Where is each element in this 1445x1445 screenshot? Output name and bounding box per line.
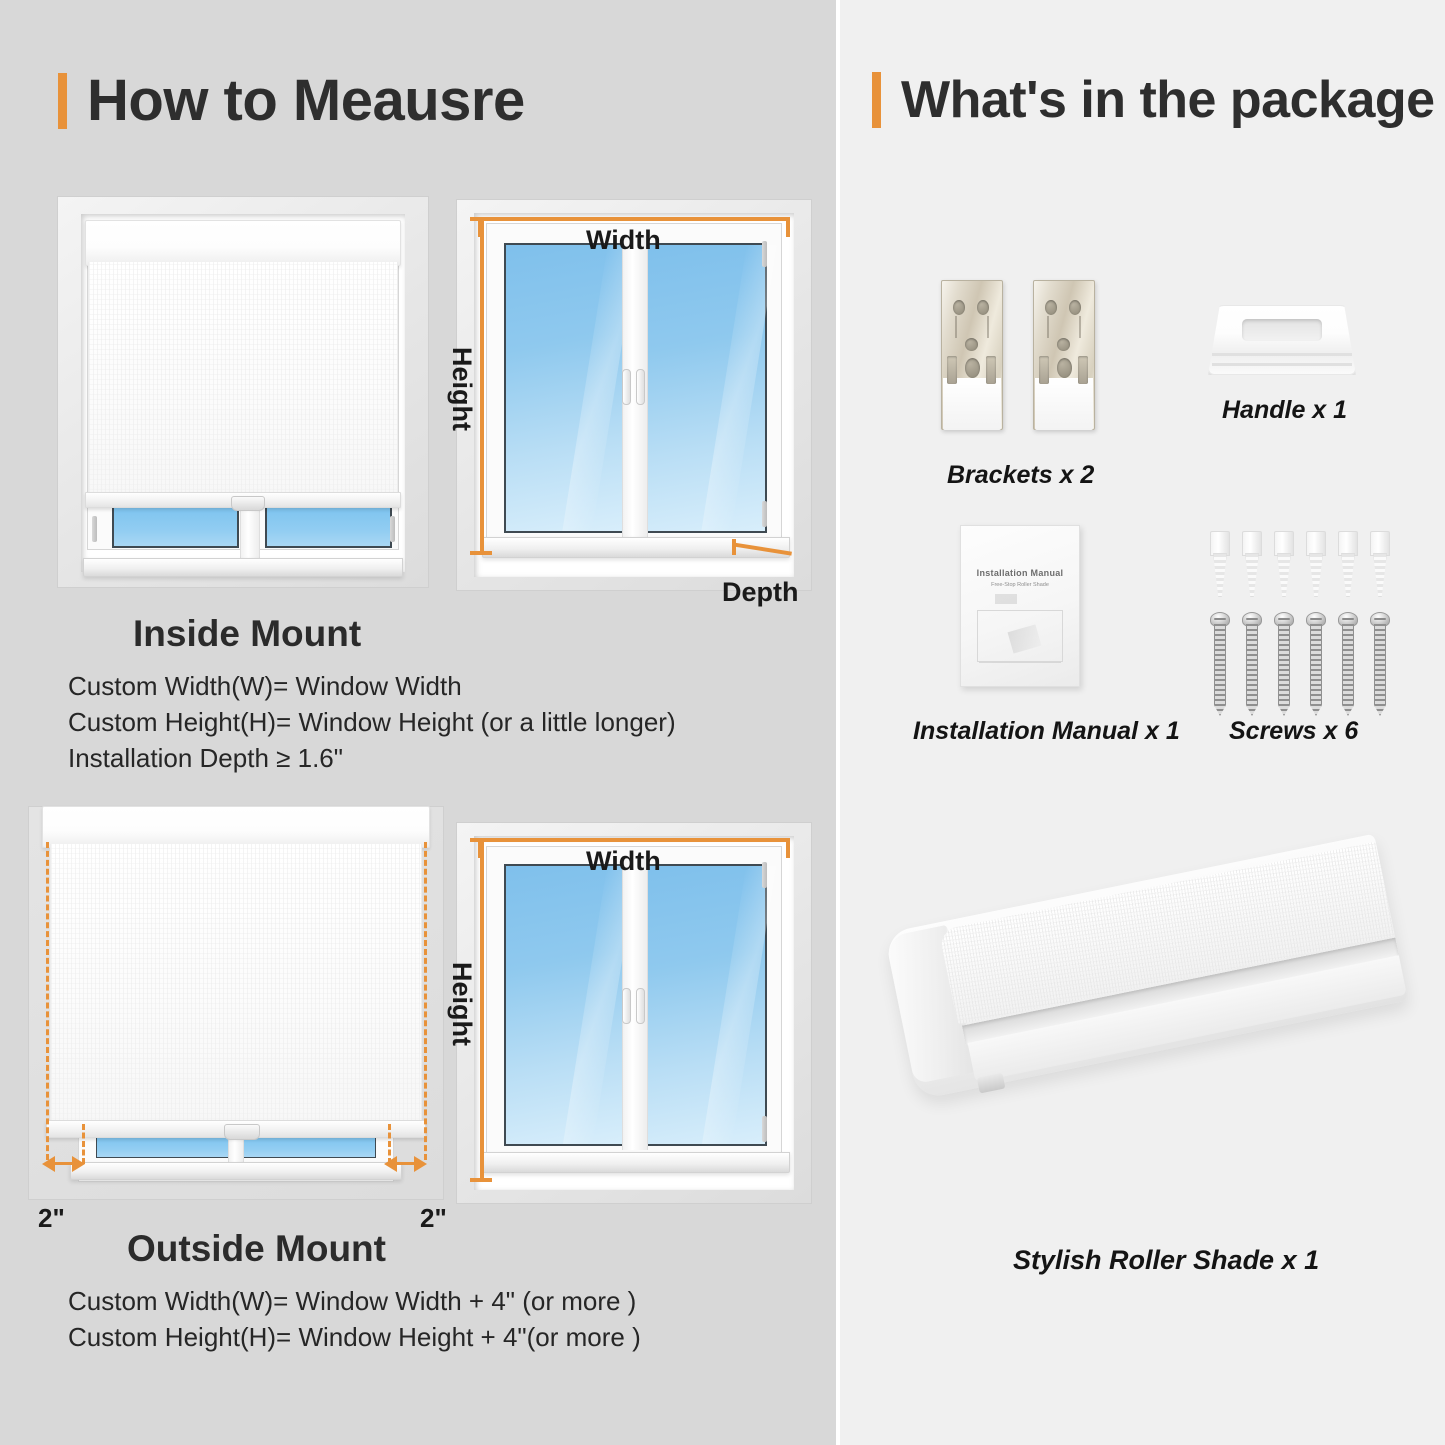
window-sill: [482, 1152, 790, 1173]
handle-part: [1208, 305, 1356, 375]
bracket-center-hole: [965, 358, 980, 378]
bracket-item-2: [1033, 280, 1095, 430]
window-glass-right: [643, 243, 767, 533]
height-measure-cap-top: [470, 217, 492, 221]
bracket-rib: [1047, 316, 1049, 338]
bracket-hole: [1069, 300, 1081, 315]
width-label: Width: [586, 225, 661, 256]
height-measure-line: [480, 217, 484, 555]
inside-mount-title: Inside Mount: [133, 613, 361, 655]
width-measure-line: [478, 217, 790, 221]
window-hinge-bottom: [762, 1116, 767, 1142]
outside-mount-window-diagram: Width Height: [456, 822, 812, 1204]
height-label: Height: [446, 962, 477, 1046]
bracket-slot: [1078, 356, 1088, 384]
anchor-body: [1245, 553, 1259, 597]
width-label: Width: [586, 846, 661, 877]
wall-anchor: [1305, 531, 1325, 595]
overhang-arrow-left-start: [42, 1156, 55, 1172]
window-glass-left: [112, 506, 239, 548]
how-to-measure-heading: How to Meausre: [58, 72, 525, 130]
screw-shaft: [1278, 624, 1290, 716]
window-glass-left: [504, 243, 628, 533]
window-hinge-bottom: [762, 501, 767, 527]
window-hinge-left: [92, 516, 97, 542]
height-measure-cap-bottom: [470, 1178, 492, 1182]
screw-shaft: [1246, 624, 1258, 716]
bracket-item-1: [941, 280, 1003, 430]
bracket-hole: [977, 300, 989, 315]
screw: [1370, 612, 1388, 716]
width-measure-cap-right: [786, 217, 790, 237]
wall-anchor: [1241, 531, 1261, 595]
manual-cover-subtitle: Free-Stop Roller Shade: [961, 582, 1079, 588]
window-hinge-top: [762, 862, 767, 888]
screw-shaft: [1214, 624, 1226, 716]
anchor-head: [1306, 531, 1326, 556]
screw: [1306, 612, 1324, 716]
height-measure-cap-top: [470, 838, 492, 842]
infographic-page: How to Meausre: [0, 0, 1445, 1445]
window-glass-left: [96, 1136, 230, 1158]
anchor-body: [1341, 553, 1355, 597]
bracket-rib: [1079, 316, 1081, 338]
anchor-head: [1274, 531, 1294, 556]
screw: [1210, 612, 1228, 716]
window-hinge-right: [390, 516, 395, 542]
window-glass-left: [504, 864, 628, 1146]
handle-ridge: [1212, 353, 1352, 356]
shade-headrail: [85, 220, 401, 266]
window-sill: [70, 1162, 402, 1180]
manual-cover-title: Installation Manual: [961, 568, 1079, 578]
screw-shaft: [1342, 624, 1354, 716]
shade-headrail: [42, 806, 430, 848]
overhang-arrow-right-end: [414, 1156, 427, 1172]
height-label: Height: [446, 347, 477, 431]
accent-bar-icon: [58, 73, 67, 129]
overhang-guide-left: [46, 842, 49, 1160]
width-measure-line: [478, 838, 790, 842]
window-sill: [83, 558, 403, 577]
glass-sheen: [702, 245, 777, 531]
wall-anchor: [1337, 531, 1357, 595]
bracket-base: [1035, 378, 1093, 430]
bracket-slot: [947, 356, 957, 384]
outside-mount-spec-1: Custom Height(H)= Window Height + 4"(or …: [68, 1322, 641, 1353]
bracket-base: [943, 378, 1001, 430]
screw-shaft: [1374, 624, 1386, 716]
outside-mount-title: Outside Mount: [127, 1228, 386, 1270]
how-to-measure-heading-text: How to Meausre: [87, 72, 525, 130]
handle-ridge: [1212, 363, 1352, 366]
overhang-label-left: 2": [38, 1203, 65, 1234]
screw: [1274, 612, 1292, 716]
screw: [1338, 612, 1356, 716]
window-glass-right: [643, 864, 767, 1146]
bracket-rib: [955, 316, 957, 338]
inside-mount-shade-illustration: [57, 196, 429, 588]
bracket-hole: [1045, 300, 1057, 315]
shade-fabric: [88, 262, 398, 495]
manual-cover-footer: [979, 662, 1061, 672]
bracket-hole: [1057, 338, 1070, 351]
bracket-hole: [965, 338, 978, 351]
shade-pull-handle: [231, 496, 265, 511]
overhang-arrow-left-end: [72, 1156, 85, 1172]
anchor-body: [1373, 553, 1387, 597]
window-handle-right: [636, 988, 645, 1024]
anchor-head: [1338, 531, 1358, 556]
anchor-head: [1370, 531, 1390, 556]
manual-cover-scribble: [995, 594, 1045, 604]
handle-grip-slot: [1242, 319, 1322, 341]
anchor-body: [1213, 553, 1227, 597]
bracket-hole: [953, 300, 965, 315]
height-measure-cap-bottom: [470, 551, 492, 555]
brackets-label: Brackets x 2: [947, 461, 1094, 490]
anchor-head: [1210, 531, 1230, 556]
window-handle-left: [622, 369, 631, 405]
accent-bar-icon: [872, 72, 881, 128]
inside-mount-spec-1: Custom Height(H)= Window Height (or a li…: [68, 707, 676, 738]
overhang-label-right: 2": [420, 1203, 447, 1234]
width-measure-cap-right: [786, 838, 790, 858]
outside-mount-spec-0: Custom Width(W)= Window Width + 4" (or m…: [68, 1286, 636, 1317]
window-glass-right: [265, 506, 392, 548]
installation-manual-label: Installation Manual x 1: [913, 717, 1180, 746]
bracket-slot: [986, 356, 996, 384]
inside-mount-window-diagram: Width Height Depth: [456, 199, 812, 591]
handle-label: Handle x 1: [1222, 396, 1347, 425]
roller-shade-product: [918, 930, 1438, 1200]
window-handle-right: [636, 369, 645, 405]
package-contents-heading-text: What's in the package: [901, 74, 1435, 126]
window-glass-right: [242, 1136, 376, 1158]
overhang-arrow-right-start: [384, 1156, 397, 1172]
inside-mount-spec-0: Custom Width(W)= Window Width: [68, 671, 462, 702]
height-measure-line: [480, 838, 484, 1182]
screw: [1242, 612, 1260, 716]
overhang-guide-right: [424, 842, 427, 1160]
bracket-rib: [987, 316, 989, 338]
package-contents-heading: What's in the package: [872, 72, 1435, 128]
roller-shade-label: Stylish Roller Shade x 1: [1013, 1245, 1319, 1276]
installation-manual: Installation Manual Free-Stop Roller Sha…: [960, 525, 1080, 687]
bracket-slot: [1039, 356, 1049, 384]
wall-anchor: [1209, 531, 1229, 595]
outside-mount-shade-illustration: [28, 806, 444, 1200]
shade-pull-handle: [224, 1124, 260, 1140]
window-hinge-top: [762, 241, 767, 267]
roller-shade-clip: [977, 1073, 1006, 1094]
bracket-center-hole: [1057, 358, 1072, 378]
anchor-body: [1277, 553, 1291, 597]
depth-measure-cap: [732, 539, 736, 555]
screws-label: Screws x 6: [1229, 717, 1358, 746]
window-handle-left: [622, 988, 631, 1024]
manual-cover-diagram: [977, 610, 1063, 662]
inside-mount-spec-2: Installation Depth ≥ 1.6": [68, 743, 343, 774]
anchor-head: [1242, 531, 1262, 556]
screw-shaft: [1310, 624, 1322, 716]
depth-label: Depth: [722, 577, 799, 608]
wall-anchor: [1369, 531, 1389, 595]
wall-anchor: [1273, 531, 1293, 595]
glass-sheen: [702, 866, 776, 1144]
anchor-body: [1309, 553, 1323, 597]
shade-fabric: [50, 844, 422, 1124]
